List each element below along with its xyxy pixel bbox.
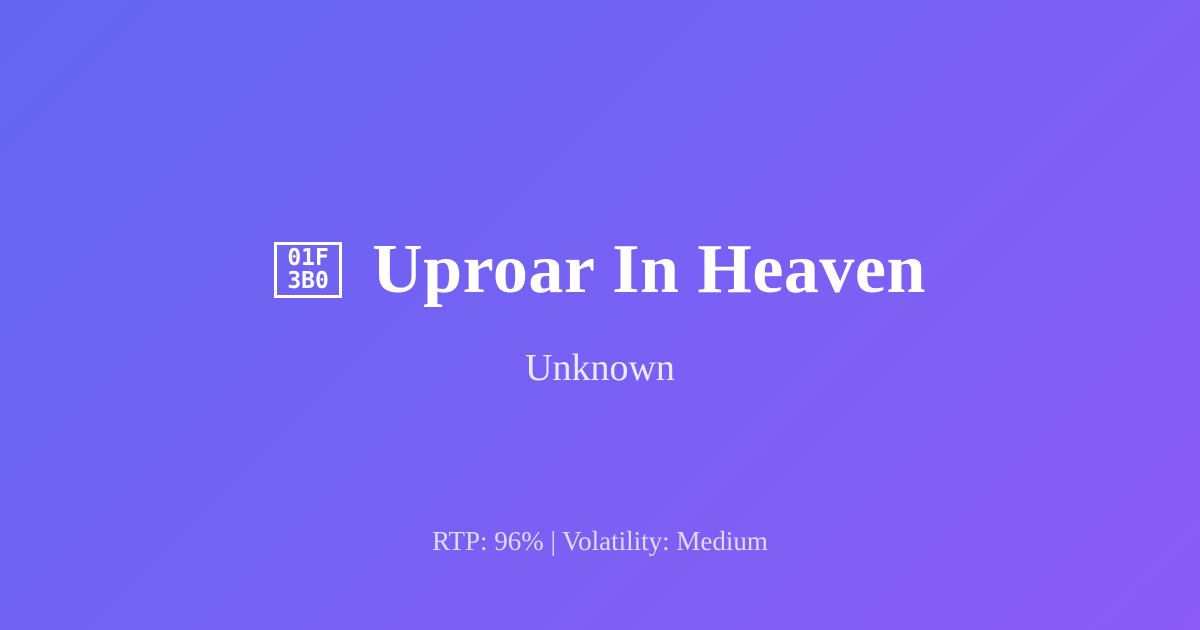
slot-machine-icon: 01F 3B0 — [274, 242, 342, 298]
tofu-codepoint-bottom: 3B0 — [287, 270, 329, 293]
title-row: 01F 3B0 Uproar In Heaven — [274, 222, 926, 318]
footer-meta-row: RTP: 96% | Volatility: Medium — [0, 524, 1200, 558]
og-share-card: 01F 3B0 Uproar In Heaven Unknown RTP: 96… — [0, 0, 1200, 630]
provider-subtitle: Unknown — [525, 346, 675, 390]
page-title: Uproar In Heaven — [372, 228, 926, 312]
tofu-codepoint-top: 01F — [287, 247, 329, 270]
game-stats-text: RTP: 96% | Volatility: Medium — [432, 524, 768, 558]
hero-block: 01F 3B0 Uproar In Heaven Unknown — [0, 222, 1200, 390]
